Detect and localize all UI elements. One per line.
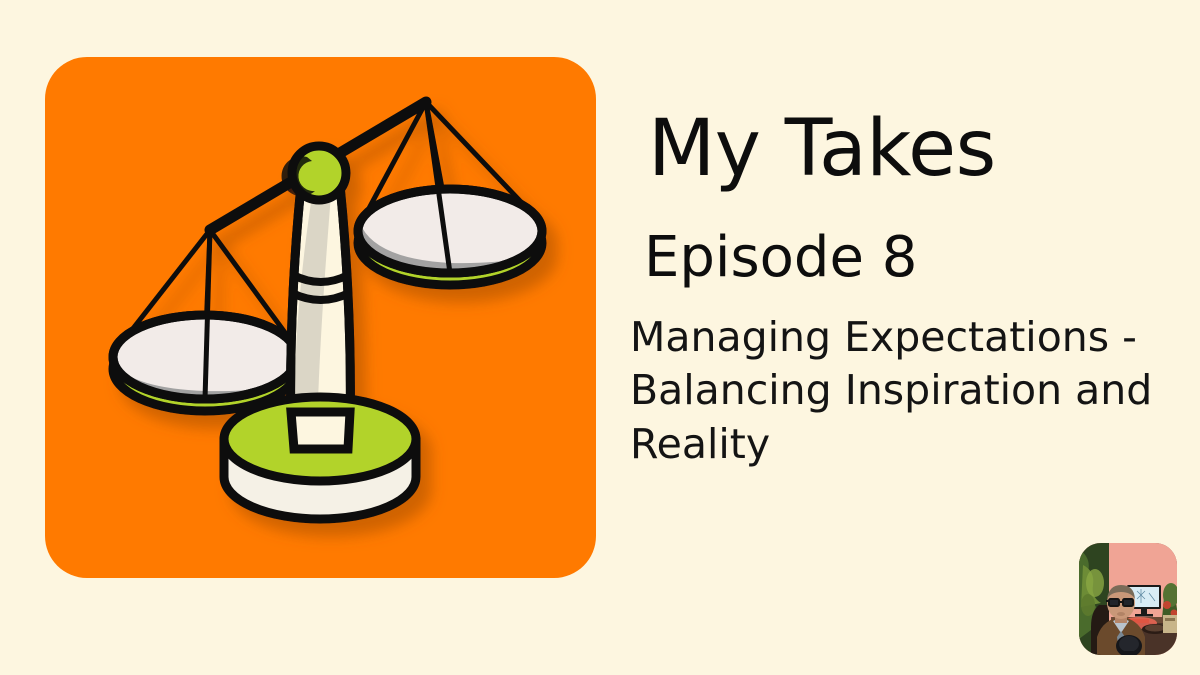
show-title: My Takes bbox=[648, 110, 1188, 188]
scale-column bbox=[291, 165, 351, 429]
scales-group bbox=[89, 102, 565, 519]
pivot-ball bbox=[282, 146, 346, 200]
artwork-card bbox=[45, 57, 596, 578]
scale-base bbox=[224, 397, 416, 519]
host-avatar-photo bbox=[1079, 543, 1177, 655]
host-avatar bbox=[1079, 543, 1177, 655]
episode-number-label: Episode 8 bbox=[644, 230, 1188, 286]
episode-subtitle: Managing Expectations - Balancing Inspir… bbox=[630, 311, 1188, 471]
balance-scales-icon bbox=[45, 57, 596, 578]
episode-text-block: My Takes Episode 8 Managing Expectations… bbox=[628, 110, 1188, 471]
episode-cover-card: My Takes Episode 8 Managing Expectations… bbox=[0, 0, 1200, 675]
